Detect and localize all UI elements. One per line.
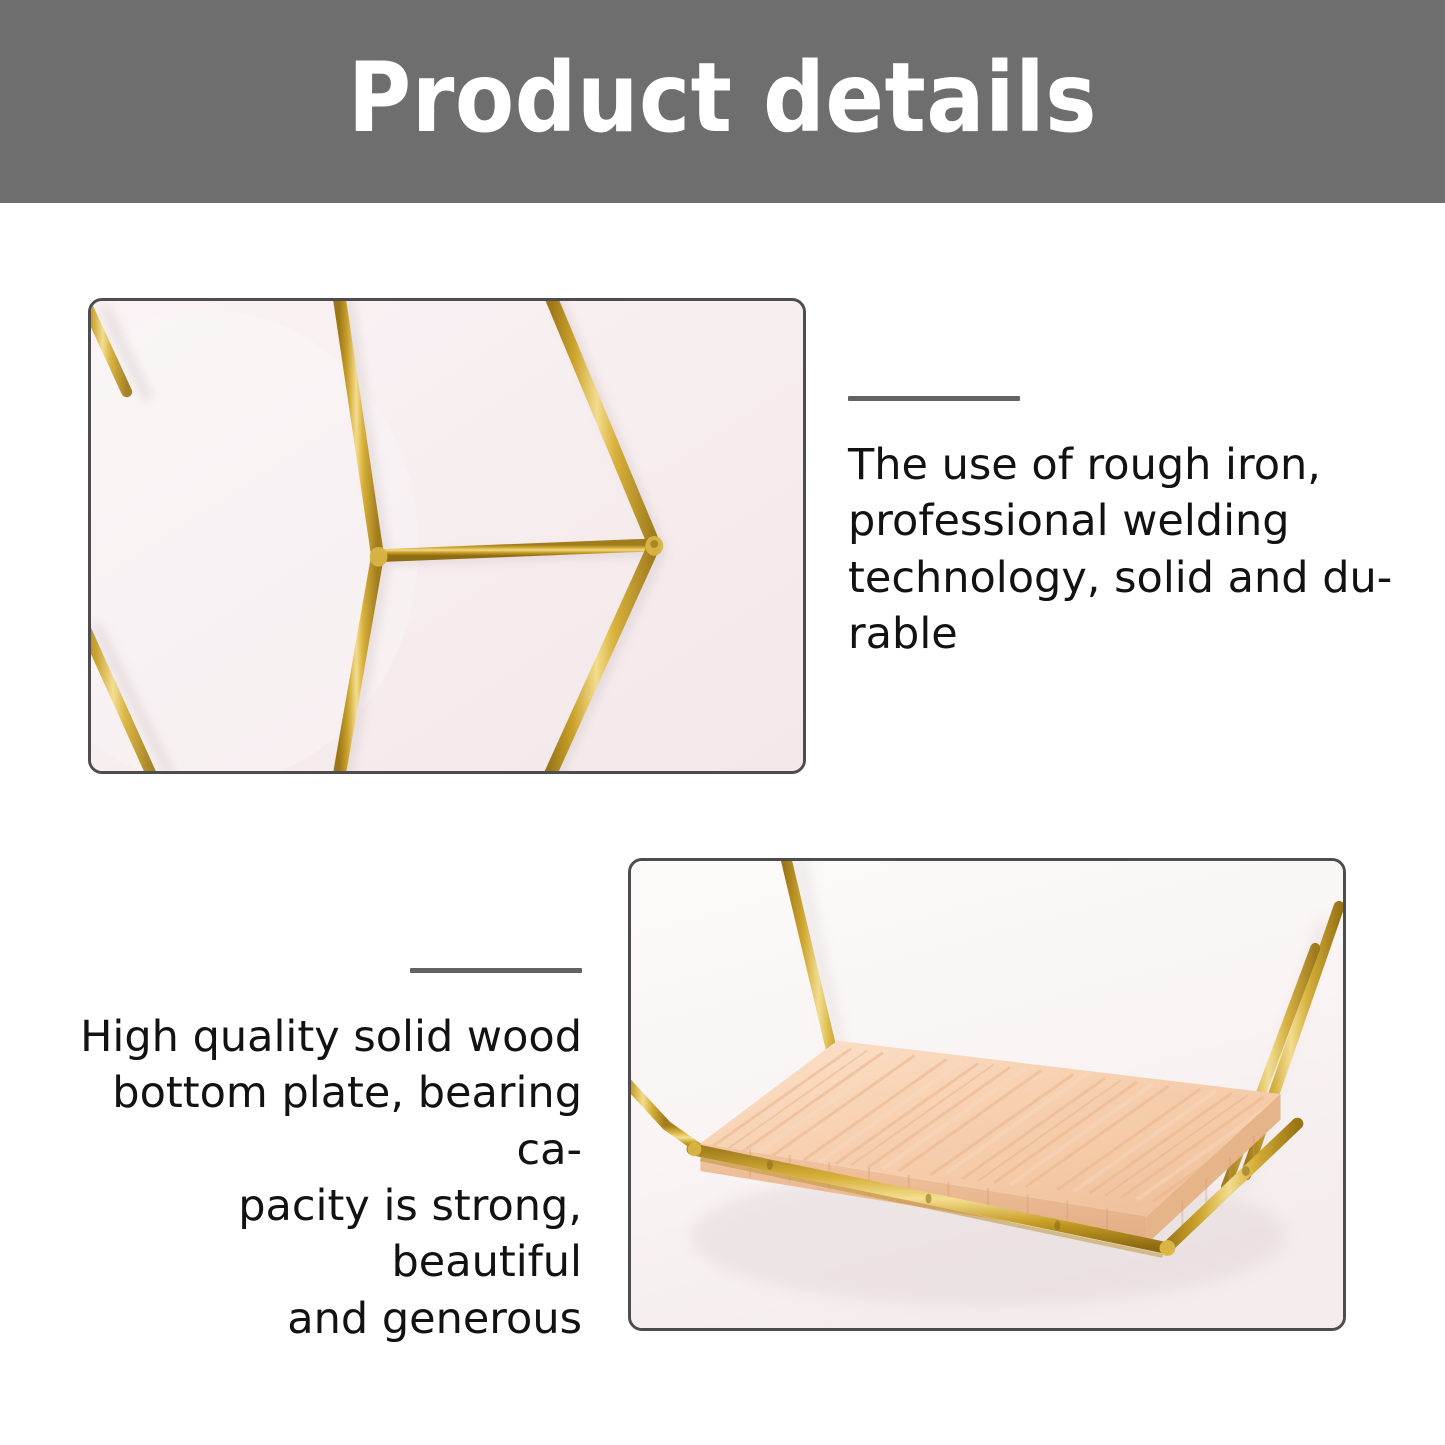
feature-divider-rule	[410, 968, 582, 973]
gold-wire-frame-photo	[91, 301, 803, 771]
wooden-shelf-illustration	[631, 861, 1343, 1328]
feature-description: The use of rough iron, professional weld…	[848, 437, 1393, 662]
feature-divider-rule	[848, 396, 1020, 401]
feature-text-rough-iron: The use of rough iron, professional weld…	[848, 396, 1393, 662]
gold-wire-frame-illustration	[91, 301, 803, 771]
feature-image-solid-wood-plate	[628, 858, 1346, 1331]
feature-text-solid-wood-plate: High quality solid wood bottom plate, be…	[72, 968, 582, 1347]
feature-image-rough-iron	[88, 298, 806, 774]
page-title: Product details	[0, 0, 1445, 203]
feature-description: High quality solid wood bottom plate, be…	[72, 1009, 582, 1347]
wooden-shelf-photo	[631, 861, 1343, 1328]
